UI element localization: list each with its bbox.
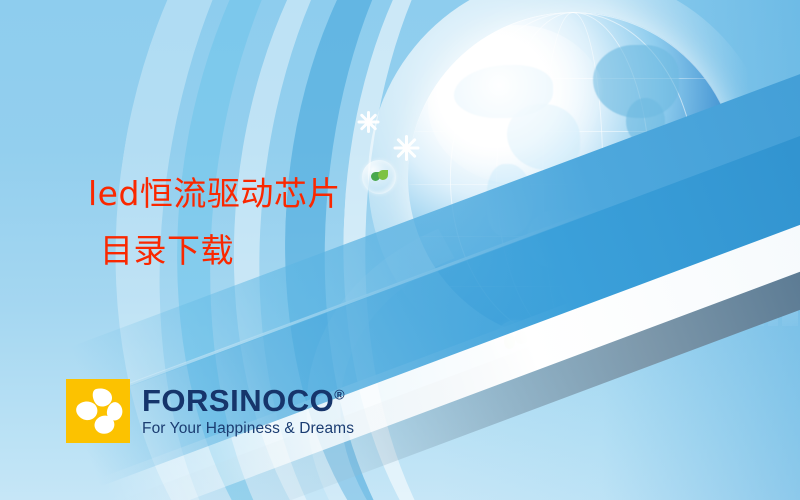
brand-name: FORSINOCO® bbox=[142, 385, 354, 416]
arc-sweep-3 bbox=[294, 0, 800, 500]
brand-tagline: For Your Happiness & Dreams bbox=[142, 421, 354, 437]
globe-highlight bbox=[428, 25, 606, 183]
right-sheen bbox=[440, 0, 800, 500]
logo-text-lockup: FORSINOCO® For Your Happiness & Dreams bbox=[142, 385, 354, 437]
registered-trademark-icon: ® bbox=[334, 387, 345, 403]
globe-glow bbox=[368, 0, 778, 382]
headline-line-2: 目录下载 bbox=[88, 223, 341, 280]
company-logo: FORSINOCO® For Your Happiness & Dreams bbox=[66, 379, 354, 443]
world-globe-icon bbox=[408, 12, 738, 342]
snowflake-icon bbox=[393, 135, 419, 161]
globe-sphere bbox=[408, 12, 738, 342]
snowflake-icon bbox=[357, 111, 379, 133]
swoosh-curve-2 bbox=[282, 171, 800, 500]
ribbon-swirl-5 bbox=[324, 0, 800, 500]
arc-sweep-4 bbox=[321, 0, 800, 500]
city-skyline-icon bbox=[630, 196, 800, 326]
pinwheel-flower-icon bbox=[66, 379, 130, 443]
headline-line-1: led恒流驱动芯片 bbox=[88, 174, 341, 213]
slide-canvas: led恒流驱动芯片 目录下载 FORSINOCO® For Your Happi… bbox=[0, 0, 800, 500]
bubble-leaf-icon bbox=[495, 320, 537, 362]
bubble-globe-icon bbox=[362, 160, 396, 194]
brand-name-text: FORSINOCO bbox=[142, 383, 334, 418]
page-title: led恒流驱动芯片 目录下载 bbox=[88, 166, 341, 280]
bubble-globe-small-icon bbox=[758, 104, 792, 138]
